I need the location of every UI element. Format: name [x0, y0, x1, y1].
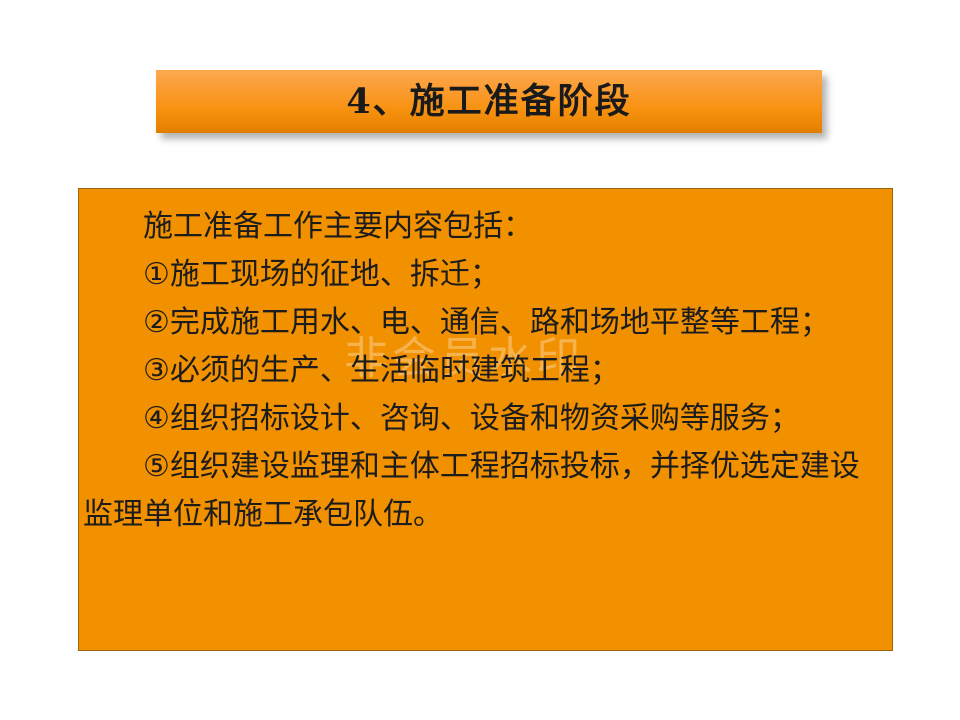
title-banner: 4、施工准备阶段 — [156, 70, 822, 133]
page-title: 4、施工准备阶段 — [346, 84, 631, 119]
content-paragraph-item-5: ⑤组织建设监理和主体工程招标投标，并择优选定建设监理单位和施工承包队伍。 — [83, 443, 886, 539]
content-body: 施工准备工作主要内容包括： ①施工现场的征地、拆迁； ②完成施工用水、电、通信、… — [79, 189, 892, 539]
content-paragraph-item-2: ②完成施工用水、电、通信、路和场地平整等工程； — [83, 299, 886, 347]
content-paragraph-intro: 施工准备工作主要内容包括： — [83, 203, 886, 251]
slide-canvas: 4、施工准备阶段 非会员水印 施工准备工作主要内容包括： ①施工现场的征地、拆迁… — [0, 0, 960, 720]
content-paragraph-item-1: ①施工现场的征地、拆迁； — [83, 251, 886, 299]
content-box: 非会员水印 施工准备工作主要内容包括： ①施工现场的征地、拆迁； ②完成施工用水… — [78, 188, 893, 651]
content-paragraph-item-3: ③必须的生产、生活临时建筑工程； — [83, 347, 886, 395]
content-paragraph-item-4: ④组织招标设计、咨询、设备和物资采购等服务； — [83, 395, 886, 443]
